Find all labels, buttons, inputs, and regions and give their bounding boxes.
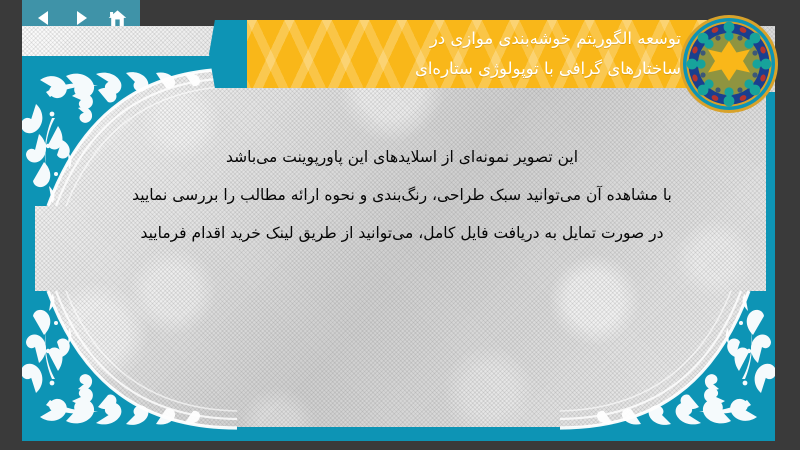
slide-canvas: این تصویر نمونه‌ای از اسلایدهای این پاور… bbox=[22, 26, 775, 441]
body-line-3: در صورت تمایل به دریافت فایل کامل، می‌تو… bbox=[52, 214, 752, 252]
presentation-viewer: این تصویر نمونه‌ای از اسلایدهای این پاور… bbox=[0, 0, 800, 450]
forward-arrow-icon bbox=[71, 8, 91, 28]
body-line-1: این تصویر نمونه‌ای از اسلایدهای این پاور… bbox=[52, 138, 752, 176]
frame-edge-right bbox=[766, 92, 775, 441]
frame-edge-left bbox=[22, 56, 35, 441]
slide-body-text: این تصویر نمونه‌ای از اسلایدهای این پاور… bbox=[52, 138, 752, 252]
body-line-2: با مشاهده آن می‌توانید سبک طراحی، رنگ‌بن… bbox=[52, 176, 752, 214]
ornament-corner-bottom-right bbox=[560, 291, 775, 441]
ornament-corner-bottom-left bbox=[22, 291, 237, 441]
back-arrow-icon bbox=[34, 8, 54, 28]
frame-edge-top bbox=[22, 56, 227, 69]
frame-edge-bottom bbox=[22, 427, 775, 441]
